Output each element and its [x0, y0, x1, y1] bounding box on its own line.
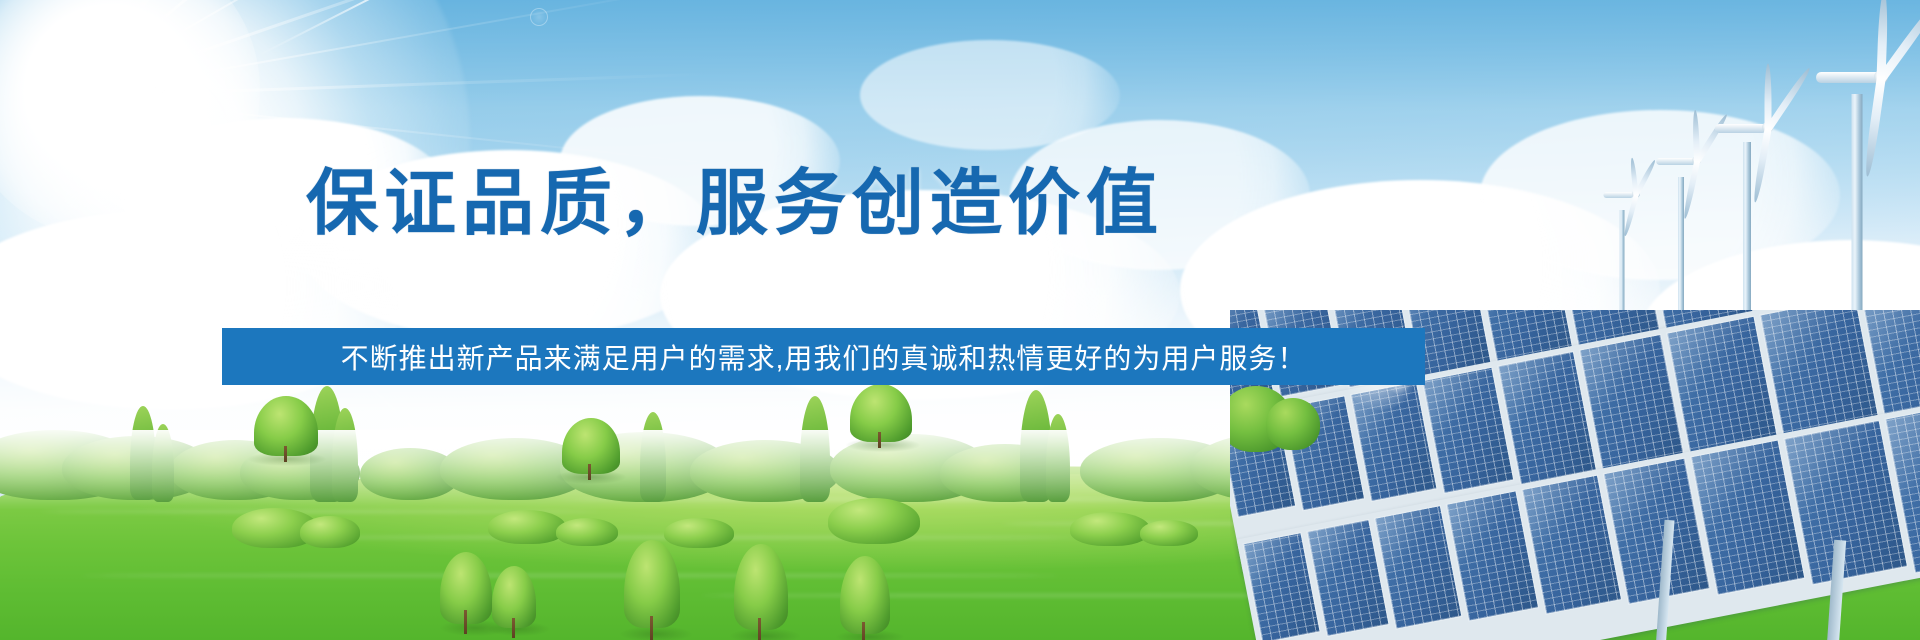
lens-flare-dot	[530, 8, 548, 26]
lens-flare-dot	[160, 88, 167, 95]
field-bush	[828, 498, 920, 544]
sapling-trunk	[758, 618, 761, 640]
sapling-trunk	[862, 622, 865, 640]
sapling-trunk	[878, 432, 881, 448]
field-bush	[664, 518, 734, 548]
field-bush	[300, 516, 360, 548]
field-bush	[1070, 512, 1150, 546]
sapling-trunk	[284, 446, 287, 462]
subtitle-banner: 不断推出新产品来满足用户的需求,用我们的真诚和热情更好的为用户服务！	[222, 328, 1425, 385]
hero-banner: 保证品质，服务创造价值 不断推出新产品来满足用户的需求,用我们的真诚和热情更好的…	[0, 0, 1920, 640]
tree-shadow	[620, 626, 692, 640]
field-bush	[488, 510, 566, 544]
page-title: 保证品质，服务创造价值	[306, 168, 1164, 240]
field-bush	[556, 518, 618, 546]
sapling-trunk	[650, 616, 653, 640]
solar-side-tree	[1266, 398, 1320, 450]
sapling-trunk	[512, 618, 515, 638]
sapling-trunk	[588, 464, 591, 480]
cloud	[860, 40, 1120, 150]
field-bush	[1140, 520, 1198, 546]
subtitle-text: 不断推出新产品来满足用户的需求,用我们的真诚和热情更好的为用户服务！	[341, 337, 1307, 377]
sapling-trunk	[464, 610, 467, 634]
